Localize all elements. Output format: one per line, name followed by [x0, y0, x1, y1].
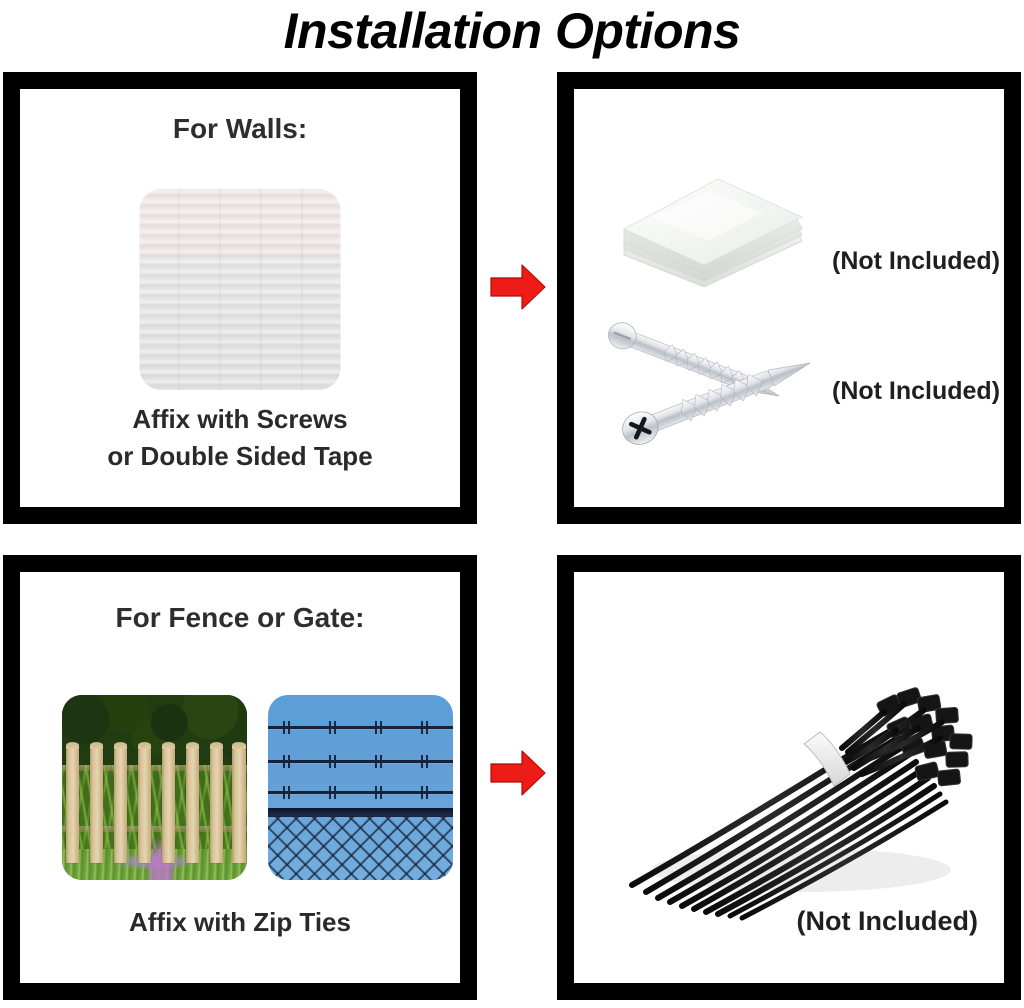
fence-caption-line1: Affix with Zip Ties [20, 904, 460, 941]
barbed-wire-strand [268, 760, 453, 763]
picket-slat [186, 747, 199, 864]
panel-fence-hardware: (Not Included) [557, 555, 1021, 1000]
wood-screws-icon [594, 315, 864, 455]
panel-wall-hardware-inner: (Not Included) [574, 89, 1004, 507]
fence-caption: Affix with Zip Ties [20, 904, 460, 941]
panel-for-fence-or-gate: For Fence or Gate: [3, 555, 477, 1000]
panel-for-walls: For Walls: Affix with Screws or Double S… [3, 72, 477, 524]
picket-slats [62, 747, 247, 864]
black-zip-tie-bundle-icon [606, 634, 986, 934]
picket-slat [210, 747, 223, 864]
chain-link-fence-photo [268, 695, 453, 880]
panel-for-fence-inner: For Fence or Gate: [20, 572, 460, 983]
barbed-wire-strand [268, 726, 453, 729]
picket-slat [162, 747, 175, 864]
fence-heading: For Fence or Gate: [20, 602, 460, 634]
right-arrow-icon-bottom [489, 748, 547, 798]
walls-caption-line2: or Double Sided Tape [20, 438, 460, 475]
tape-not-included-label: (Not Included) [832, 247, 1000, 276]
screw-not-included-label: (Not Included) [832, 377, 1000, 406]
right-arrow-icon-top [489, 262, 547, 312]
panel-fence-hardware-inner: (Not Included) [574, 572, 1004, 983]
white-brick-wall-swatch [140, 189, 341, 390]
walls-heading: For Walls: [20, 113, 460, 145]
walls-caption-line1: Affix with Screws [20, 401, 460, 438]
picket-slat [66, 747, 79, 864]
ziptie-not-included-label: (Not Included) [797, 906, 978, 937]
picket-slat [90, 747, 103, 864]
chain-link-mesh [268, 817, 453, 880]
panel-wall-hardware: (Not Included) [557, 72, 1021, 524]
double-sided-tape-stack-icon [612, 169, 808, 299]
page-title: Installation Options [0, 2, 1024, 60]
walls-caption: Affix with Screws or Double Sided Tape [20, 401, 460, 475]
infographic-root: Installation Options For Walls: Affix wi… [0, 0, 1024, 1008]
barbed-wire-strand [268, 791, 453, 794]
picket-slat [232, 747, 245, 864]
picket-slat [114, 747, 127, 864]
picket-slat [138, 747, 151, 864]
wooden-picket-fence-photo [62, 695, 247, 880]
panel-for-walls-inner: For Walls: Affix with Screws or Double S… [20, 89, 460, 507]
